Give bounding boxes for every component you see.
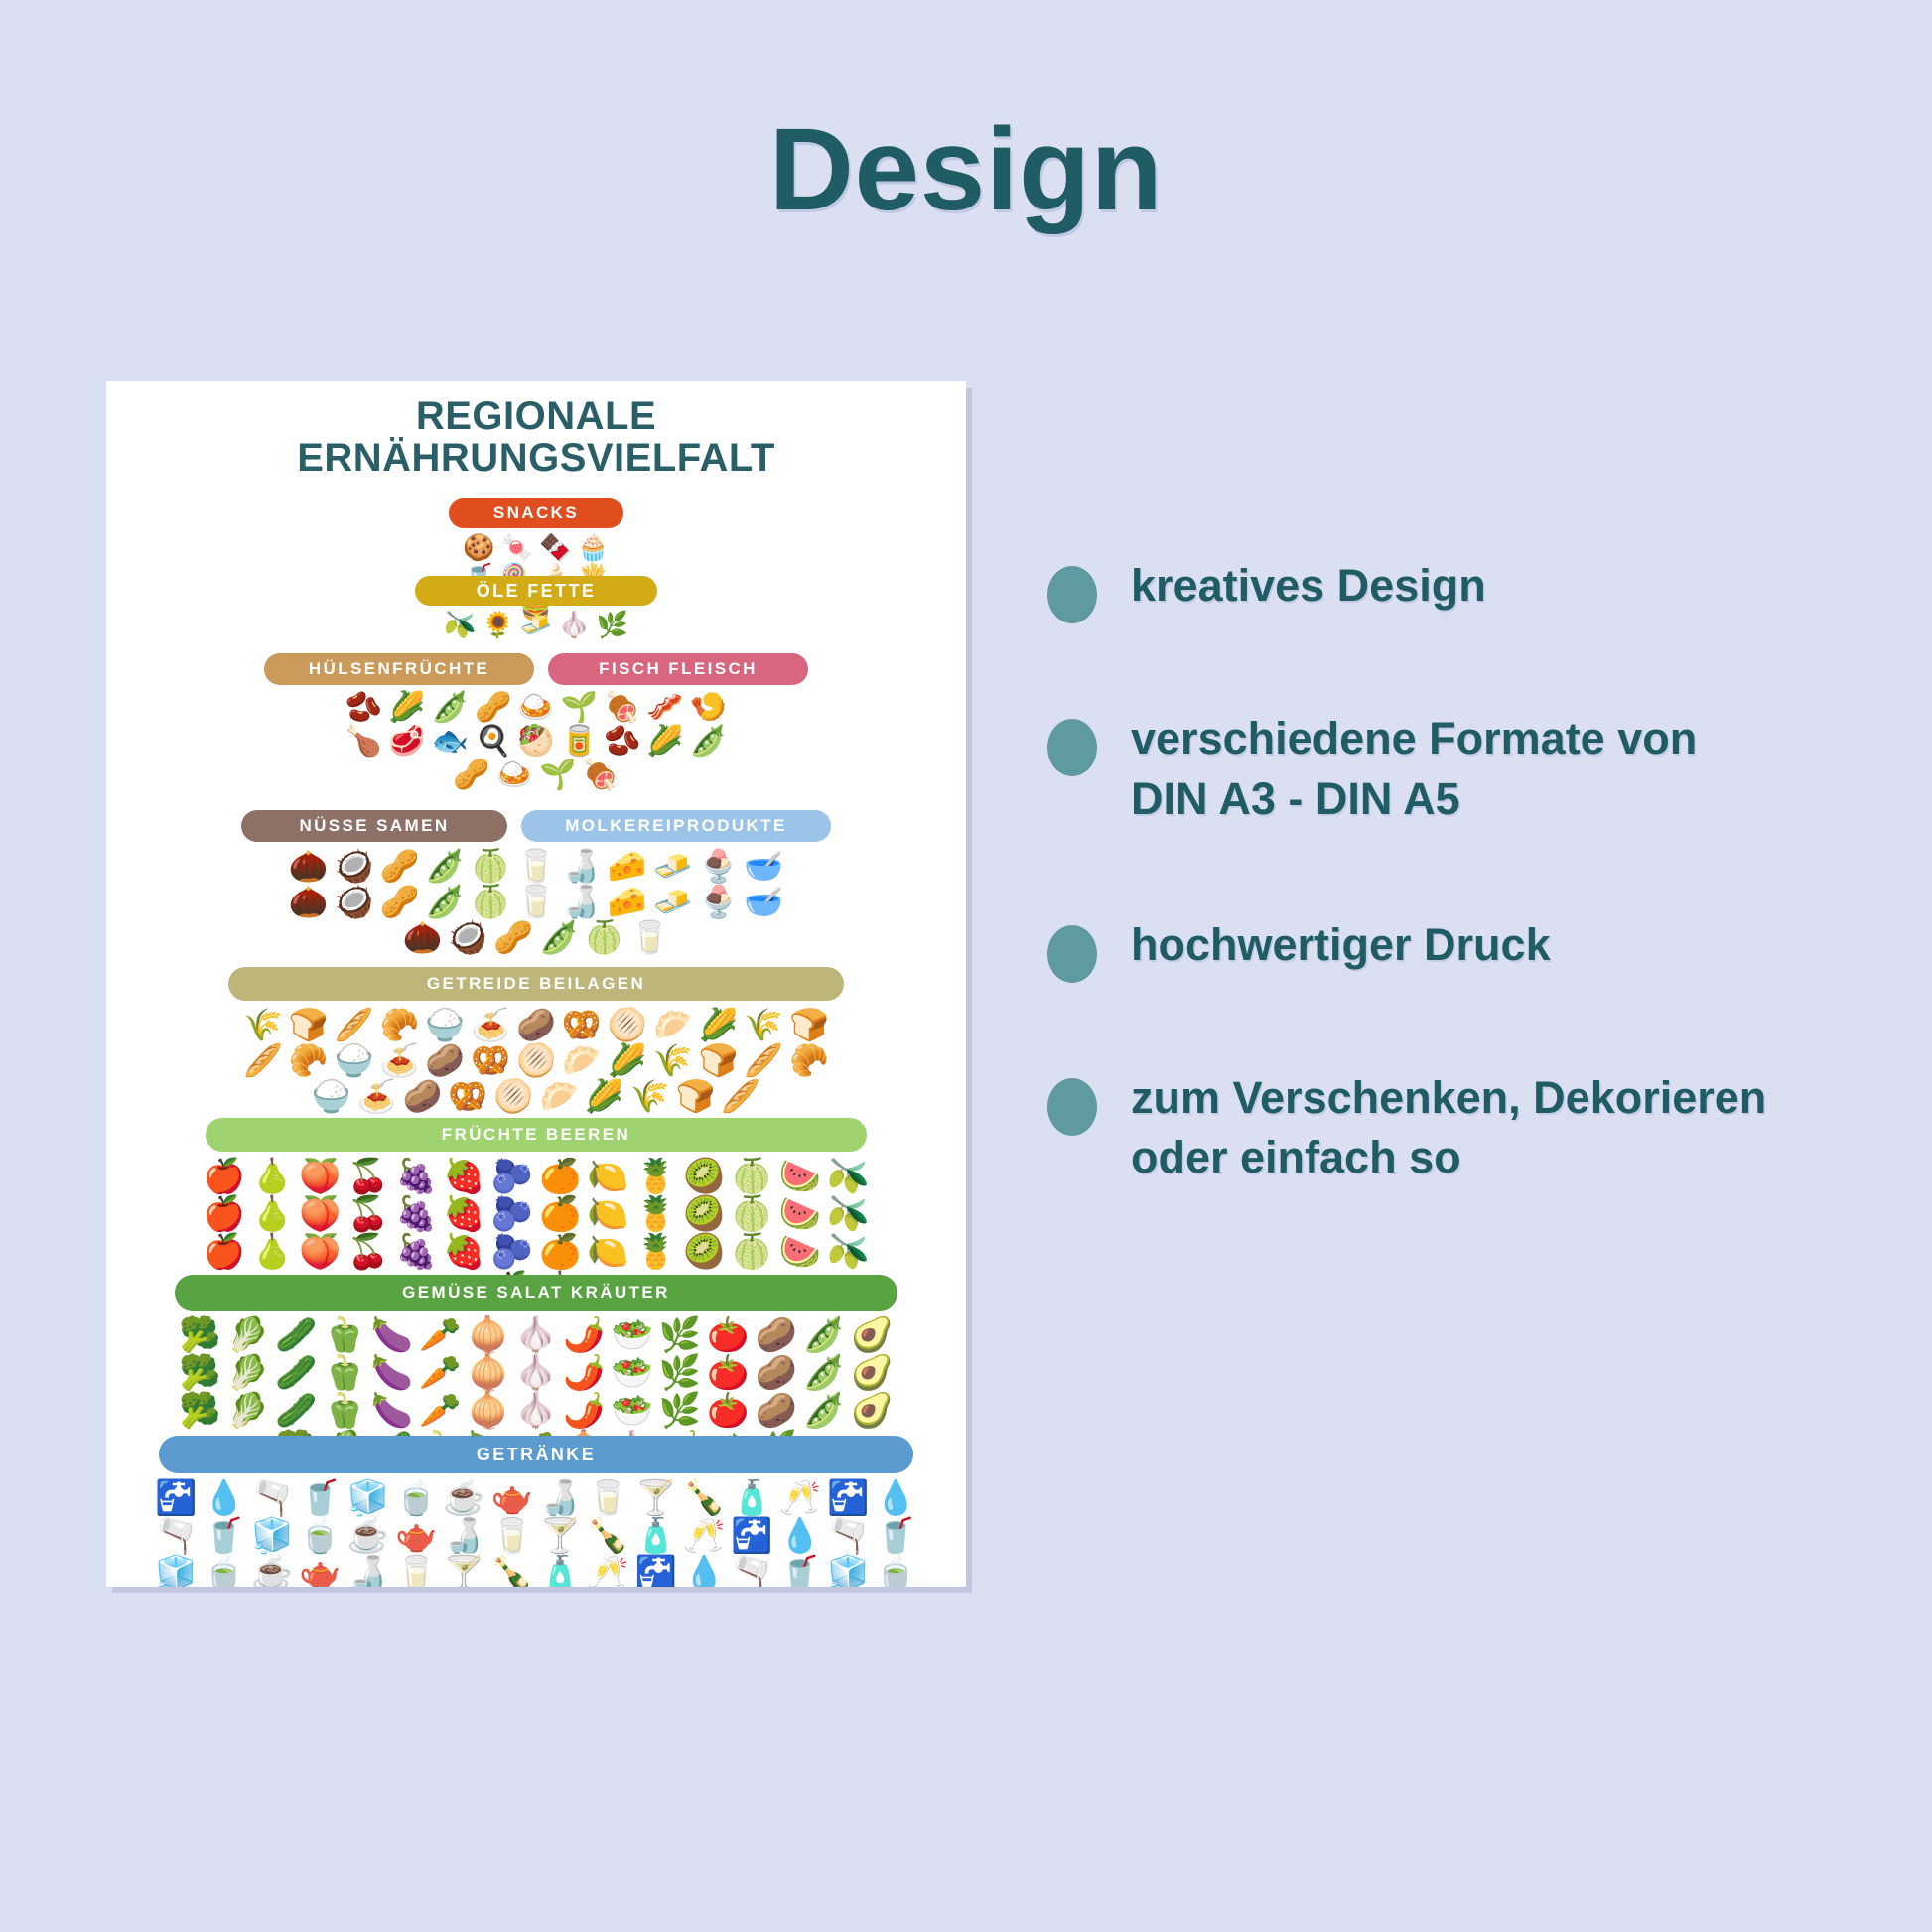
feature-item-line: kreatives Design xyxy=(1131,556,1486,617)
food-illustration: 🧀 xyxy=(608,886,647,917)
band-row: GEMÜSE SALAT KRÄUTER xyxy=(106,1275,966,1311)
food-illustration: 🍉 xyxy=(779,1197,821,1231)
food-illustration: 🥗 xyxy=(612,1356,653,1390)
food-illustration: 🥛 xyxy=(516,886,556,917)
food-illustration: 🧊 xyxy=(155,1557,197,1587)
food-illustration: 🥗 xyxy=(612,1318,653,1352)
pyramid-tier-getreide-beilagen: GETREIDE BEILAGEN🌾🍞🥖🥐🍚🍝🥔🥨🫓🥟🌽🌾🍞🥖🥐🍚🍝🥔🥨🫓🥟🌽🌾… xyxy=(106,967,966,1112)
pyramid-tier-nuesse-samen-molkerei: NÜSSE SAMENMOLKEREIPRODUKTE🌰🥥🥜🫛🍈🥛🍶🧀🧈🍨🥣🌰🥥… xyxy=(106,810,966,953)
food-illustration: 🧄 xyxy=(558,612,590,637)
food-illustration: 💧 xyxy=(779,1519,821,1553)
food-illustration: 🍓 xyxy=(443,1160,484,1193)
food-illustration: 🍞 xyxy=(698,1044,738,1076)
food-illustration: 🫛 xyxy=(425,850,465,882)
food-illustration: 🍆 xyxy=(371,1394,413,1428)
food-illustration: 🥦 xyxy=(179,1318,220,1352)
food-illustration: 🥔 xyxy=(756,1356,797,1390)
food-illustration: 🥕 xyxy=(419,1318,461,1352)
food-illustration: 🫗 xyxy=(155,1519,197,1553)
food-illustration: 🍑 xyxy=(299,1197,341,1231)
food-illustration: 🥤 xyxy=(875,1519,916,1553)
food-illustration: 🍶 xyxy=(562,886,602,917)
food-illustration: 🍸 xyxy=(539,1519,581,1553)
food-illustration: 🥥 xyxy=(335,850,374,882)
food-illustration: 🥛 xyxy=(587,1481,628,1515)
food-illustration: 🥕 xyxy=(419,1356,461,1390)
food-illustration: 🍾 xyxy=(587,1519,628,1553)
feature-item-line: hochwertiger Druck xyxy=(1131,915,1551,976)
food-illustration: 🧴 xyxy=(731,1481,772,1515)
pyramid-tier-huelsenfruechte-fisch-fleisch: HÜLSENFRÜCHTEFISCH FLEISCH🫘🌽🫛🥜🍛🌱🍖🥓🍤🍗🥩🐟🍳🥙… xyxy=(106,653,966,790)
food-illustration: 💧 xyxy=(683,1557,725,1587)
food-illustration: 🍶 xyxy=(347,1557,389,1587)
feature-item-label: verschiedene Formate vonDIN A3 - DIN A5 xyxy=(1131,709,1697,830)
food-illustration: 🧅 xyxy=(467,1394,508,1428)
food-illustration: 🌿 xyxy=(659,1356,701,1390)
food-illustration: 🧁 xyxy=(577,534,609,560)
food-illustration: 🥝 xyxy=(683,1197,725,1231)
food-illustration: 🧈 xyxy=(653,886,693,917)
food-illustration: 🚰 xyxy=(827,1481,869,1515)
pyramid-band-label: MOLKEREIPRODUKTE xyxy=(521,810,831,842)
pyramid-tier-illustrations: 🌰🥥🥜🫛🍈🥛🍶🧀🧈🍨🥣🌰🥥🥜🫛🍈🥛🍶🧀🧈🍨🥣🌰🥥🥜🫛🍈🥛 xyxy=(288,850,784,953)
food-illustration: 🍛 xyxy=(517,693,554,723)
food-illustration: 🍒 xyxy=(347,1235,389,1269)
food-illustration: 🧊 xyxy=(347,1481,389,1515)
food-illustration: 🫓 xyxy=(493,1080,533,1112)
food-illustration: 🥜 xyxy=(380,886,420,917)
food-illustration: 🍈 xyxy=(471,850,510,882)
food-illustration: 🍋 xyxy=(587,1160,628,1193)
band-row: GETRÄNKE xyxy=(106,1436,966,1473)
food-illustration: 🫛 xyxy=(425,886,465,917)
food-illustration: 🌽 xyxy=(698,1009,738,1040)
food-illustration: 🫒 xyxy=(827,1197,869,1231)
food-illustration: 🥨 xyxy=(562,1009,602,1040)
food-illustration: 🐟 xyxy=(432,727,469,757)
food-illustration: 🍍 xyxy=(635,1235,677,1269)
poster-title-line1: REGIONALE xyxy=(106,395,966,437)
food-illustration: ☕ xyxy=(347,1519,389,1553)
feature-item-line: zum Verschenken, Dekorieren xyxy=(1131,1068,1766,1129)
feature-item-line: DIN A3 - DIN A5 xyxy=(1131,769,1697,830)
food-illustration: 🧅 xyxy=(467,1356,508,1390)
food-illustration: 🧊 xyxy=(827,1557,869,1587)
food-illustration: 🫖 xyxy=(395,1519,437,1553)
poster-title: REGIONALE ERNÄHRUNGSVIELFALT xyxy=(106,395,966,479)
food-illustration: 🍵 xyxy=(299,1519,341,1553)
food-illustration: 🍚 xyxy=(425,1009,465,1040)
food-illustration: 🥂 xyxy=(683,1519,725,1553)
food-illustration: 🍖 xyxy=(582,760,619,790)
food-illustration: 🫛 xyxy=(803,1318,845,1352)
food-illustration: 🍊 xyxy=(539,1197,581,1231)
feature-list: kreatives Designverschiedene Formate von… xyxy=(1047,556,1871,1274)
food-illustration: 🌾 xyxy=(243,1009,283,1040)
food-illustration: 💧 xyxy=(875,1481,916,1515)
food-illustration: 🍈 xyxy=(471,886,510,917)
food-illustration: 🍆 xyxy=(371,1318,413,1352)
band-row: SNACKS xyxy=(106,498,966,528)
food-illustration: 🥒 xyxy=(275,1318,317,1352)
food-illustration: 🚰 xyxy=(731,1519,772,1553)
food-illustration: 🫒 xyxy=(827,1235,869,1269)
food-illustration: 🍑 xyxy=(299,1160,341,1193)
food-illustration: 🧈 xyxy=(520,612,552,637)
pyramid-band-label: FISCH FLEISCH xyxy=(548,653,808,685)
feature-item-verschenken: zum Verschenken, Dekorierenoder einfach … xyxy=(1047,1068,1871,1189)
food-illustration: 🫒 xyxy=(827,1160,869,1193)
food-illustration: 🥥 xyxy=(448,921,487,953)
food-illustration: 🌿 xyxy=(659,1394,701,1428)
food-illustration: 🫒 xyxy=(444,612,476,637)
food-illustration: 🍉 xyxy=(779,1235,821,1269)
food-illustration: 🫗 xyxy=(827,1519,869,1553)
food-illustration: 🍝 xyxy=(357,1080,397,1112)
food-illustration: 🍨 xyxy=(698,886,738,917)
food-illustration: 🍵 xyxy=(204,1557,245,1587)
food-illustration: 🌰 xyxy=(289,850,329,882)
food-illustration: 🫘 xyxy=(345,693,382,723)
pyramid-tier-illustrations: 🫘🌽🫛🥜🍛🌱🍖🥓🍤🍗🥩🐟🍳🥙🥫🫘🌽🫛🥜🍛🌱🍖 xyxy=(338,693,735,790)
food-illustration: 🥒 xyxy=(275,1356,317,1390)
food-illustration: 🍬 xyxy=(501,534,533,560)
food-illustration: 🍞 xyxy=(289,1009,329,1040)
pyramid-band-label: NÜSSE SAMEN xyxy=(241,810,507,842)
food-illustration: 🍞 xyxy=(789,1009,829,1040)
food-illustration: 🌽 xyxy=(585,1080,624,1112)
food-illustration: 🥓 xyxy=(646,693,683,723)
feature-item-label: hochwertiger Druck xyxy=(1131,915,1551,976)
feature-item-line: oder einfach so xyxy=(1131,1128,1766,1188)
food-illustration: 🥨 xyxy=(448,1080,487,1112)
food-illustration: 🍞 xyxy=(676,1080,716,1112)
food-illustration: 🥬 xyxy=(227,1356,269,1390)
food-illustration: 🥣 xyxy=(744,850,783,882)
food-illustration: 🫑 xyxy=(323,1318,364,1352)
food-illustration: 🥤 xyxy=(299,1481,341,1515)
food-illustration: 🧴 xyxy=(635,1519,677,1553)
band-row: NÜSSE SAMENMOLKEREIPRODUKTE xyxy=(106,810,966,842)
food-illustration: 🍅 xyxy=(707,1356,749,1390)
food-illustration: 🥖 xyxy=(243,1044,283,1076)
food-illustration: 🍇 xyxy=(395,1197,437,1231)
bullet-dot-icon xyxy=(1047,719,1097,776)
pyramid-tier-oele-fette: ÖLE FETTE🫒🌻🧈🧄🌿 xyxy=(106,576,966,637)
food-illustration: 🍒 xyxy=(347,1197,389,1231)
food-illustration: 🍾 xyxy=(491,1557,533,1587)
food-illustration: 🥬 xyxy=(227,1394,269,1428)
feature-item-label: kreatives Design xyxy=(1131,556,1486,617)
food-illustration: 🍶 xyxy=(443,1519,484,1553)
food-illustration: 🍫 xyxy=(539,534,571,560)
food-illustration: 🍈 xyxy=(585,921,624,953)
food-illustration: 🍇 xyxy=(395,1235,437,1269)
food-illustration: 🌾 xyxy=(630,1080,670,1112)
food-illustration: 🥜 xyxy=(380,850,420,882)
food-illustration: 🥕 xyxy=(419,1394,461,1428)
pyramid-band-label: ÖLE FETTE xyxy=(415,576,657,606)
food-illustration: 🍐 xyxy=(251,1197,293,1231)
pyramid-band-label: GETREIDE BEILAGEN xyxy=(228,967,844,1001)
food-illustration: 🌽 xyxy=(646,727,683,757)
food-illustration: 🚰 xyxy=(635,1557,677,1587)
food-illustration: 🫐 xyxy=(491,1235,533,1269)
food-illustration: 🍸 xyxy=(443,1557,484,1587)
page-title: Design xyxy=(0,111,1932,228)
food-illustration: 🫘 xyxy=(604,727,640,757)
food-illustration: 🥟 xyxy=(653,1009,693,1040)
food-illustration: 🚰 xyxy=(155,1481,197,1515)
food-illustration: 🥔 xyxy=(425,1044,465,1076)
food-illustration: 🍪 xyxy=(463,534,494,560)
food-illustration: 🍓 xyxy=(443,1197,484,1231)
food-illustration: 🍈 xyxy=(731,1235,772,1269)
food-illustration: 🌶️ xyxy=(563,1356,605,1390)
food-illustration: 🫑 xyxy=(323,1356,364,1390)
food-illustration: 🍝 xyxy=(380,1044,420,1076)
food-illustration: 🍗 xyxy=(345,727,382,757)
food-illustration: 🌰 xyxy=(402,921,442,953)
food-illustration: 🍸 xyxy=(635,1481,677,1515)
food-illustration: 🍵 xyxy=(395,1481,437,1515)
food-illustration: 🫗 xyxy=(251,1481,293,1515)
food-illustration: 🍎 xyxy=(204,1160,245,1193)
food-illustration: ☕ xyxy=(251,1557,293,1587)
food-illustration: 🍈 xyxy=(731,1197,772,1231)
food-illustration: 🥣 xyxy=(744,886,783,917)
food-illustration: 🥔 xyxy=(402,1080,442,1112)
food-illustration: 🥛 xyxy=(491,1519,533,1553)
bullet-dot-icon xyxy=(1047,566,1097,623)
food-illustration: 🍊 xyxy=(539,1160,581,1193)
food-illustration: 🥛 xyxy=(395,1557,437,1587)
food-illustration: 🥗 xyxy=(612,1394,653,1428)
food-illustration: 🥝 xyxy=(683,1235,725,1269)
food-illustration: 🍶 xyxy=(539,1481,581,1515)
food-illustration: 🫑 xyxy=(323,1394,364,1428)
band-row: HÜLSENFRÜCHTEFISCH FLEISCH xyxy=(106,653,966,685)
food-illustration: 🫛 xyxy=(432,693,469,723)
feature-item-label: zum Verschenken, Dekorierenoder einfach … xyxy=(1131,1068,1766,1189)
food-illustration: 💧 xyxy=(204,1481,245,1515)
pyramid-tier-illustrations: 🫒🌻🧈🧄🌿 xyxy=(422,612,650,637)
food-illustration: 🫖 xyxy=(491,1481,533,1515)
food-illustration: 🌾 xyxy=(744,1009,783,1040)
food-illustration: 🥩 xyxy=(388,727,425,757)
food-illustration: 🥐 xyxy=(380,1009,420,1040)
food-illustration: 🍋 xyxy=(587,1235,628,1269)
food-illustration: 🌱 xyxy=(561,693,598,723)
food-illustration: 🥐 xyxy=(789,1044,829,1076)
pyramid-band-label: GEMÜSE SALAT KRÄUTER xyxy=(175,1275,897,1311)
food-illustration: 🫛 xyxy=(803,1394,845,1428)
poster-preview[interactable]: REGIONALE ERNÄHRUNGSVIELFALT SNACKS🍪🍬🍫🧁🥤… xyxy=(106,381,966,1587)
food-illustration: 🥖 xyxy=(335,1009,374,1040)
food-illustration: 🌶️ xyxy=(563,1394,605,1428)
food-illustration: 🍅 xyxy=(707,1394,749,1428)
food-illustration: 🥔 xyxy=(756,1394,797,1428)
food-illustration: 🥔 xyxy=(756,1318,797,1352)
food-illustration: 🍆 xyxy=(371,1356,413,1390)
pyramid-tier-illustrations: 🌾🍞🥖🥐🍚🍝🥔🥨🫓🥟🌽🌾🍞🥖🥐🍚🍝🥔🥨🫓🥟🌽🌾🍞🥖🥐🍚🍝🥔🥨🫓🥟🌽🌾🍞🥖 xyxy=(233,1009,839,1112)
food-illustration: 🍋 xyxy=(587,1197,628,1231)
food-illustration: 🥫 xyxy=(561,727,598,757)
bullet-dot-icon xyxy=(1047,925,1097,983)
pyramid-band-label: HÜLSENFRÜCHTE xyxy=(264,653,534,685)
food-illustration: 🥬 xyxy=(227,1318,269,1352)
food-illustration: 🫛 xyxy=(803,1356,845,1390)
food-illustration: 🫛 xyxy=(539,921,579,953)
feature-item-formate: verschiedene Formate vonDIN A3 - DIN A5 xyxy=(1047,709,1871,830)
food-illustration: 🥛 xyxy=(516,850,556,882)
food-illustration: 🌽 xyxy=(608,1044,647,1076)
food-illustration: 🫓 xyxy=(608,1009,647,1040)
food-illustration: 🧴 xyxy=(539,1557,581,1587)
food-illustration: 🥐 xyxy=(289,1044,329,1076)
food-illustration: 🫖 xyxy=(299,1557,341,1587)
food-illustration: 🥒 xyxy=(275,1394,317,1428)
food-illustration: 🍖 xyxy=(604,693,640,723)
food-illustration: 🌽 xyxy=(388,693,425,723)
food-illustration: 🌿 xyxy=(597,612,628,637)
food-illustration: 🍅 xyxy=(707,1318,749,1352)
food-illustration: 🍝 xyxy=(471,1009,510,1040)
feature-item-druck: hochwertiger Druck xyxy=(1047,915,1871,983)
food-illustration: 🥙 xyxy=(517,727,554,757)
food-illustration: 🥜 xyxy=(453,760,489,790)
food-illustration: 🥑 xyxy=(851,1356,893,1390)
food-illustration: 🧈 xyxy=(653,850,693,882)
food-illustration: 🍐 xyxy=(251,1160,293,1193)
food-illustration: 🥟 xyxy=(539,1080,579,1112)
food-illustration: 🫐 xyxy=(491,1197,533,1231)
poster-title-line2: ERNÄHRUNGSVIELFALT xyxy=(106,437,966,479)
food-illustration: 🥦 xyxy=(179,1394,220,1428)
pyramid-band-label: GETRÄNKE xyxy=(159,1436,913,1473)
food-illustration: 🥦 xyxy=(179,1356,220,1390)
food-illustration: 🌿 xyxy=(659,1318,701,1352)
band-row: FRÜCHTE BEEREN xyxy=(106,1118,966,1152)
band-row: ÖLE FETTE xyxy=(106,576,966,606)
food-illustration: 🍶 xyxy=(562,850,602,882)
band-row: GETREIDE BEILAGEN xyxy=(106,967,966,1001)
food-illustration: 🥨 xyxy=(471,1044,510,1076)
food-illustration: 🥂 xyxy=(779,1481,821,1515)
food-illustration: 🍳 xyxy=(475,727,511,757)
food-illustration: 🧄 xyxy=(515,1318,557,1352)
feature-item-line: verschiedene Formate von xyxy=(1131,709,1697,769)
food-illustration: 🥖 xyxy=(744,1044,783,1076)
food-illustration: 🫓 xyxy=(516,1044,556,1076)
food-illustration: 🥛 xyxy=(630,921,670,953)
food-illustration: 🌶️ xyxy=(563,1318,605,1352)
food-illustration: 🌾 xyxy=(653,1044,693,1076)
food-illustration: 🥖 xyxy=(721,1080,760,1112)
food-illustration: 🧀 xyxy=(608,850,647,882)
food-illustration: 🫗 xyxy=(731,1557,772,1587)
food-illustration: 🍊 xyxy=(539,1235,581,1269)
food-illustration: 🍓 xyxy=(443,1235,484,1269)
food-illustration: ☕ xyxy=(443,1481,484,1515)
feature-item-kreatives-design: kreatives Design xyxy=(1047,556,1871,623)
food-illustration: 🥑 xyxy=(851,1394,893,1428)
bullet-dot-icon xyxy=(1047,1078,1097,1136)
food-illustration: 🥥 xyxy=(335,886,374,917)
food-illustration: 🌰 xyxy=(289,886,329,917)
food-illustration: 🧄 xyxy=(515,1356,557,1390)
food-illustration: 🍛 xyxy=(496,760,533,790)
pyramid-band-label: FRÜCHTE BEEREN xyxy=(206,1118,867,1152)
food-illustration: 🍾 xyxy=(683,1481,725,1515)
food-illustration: 🍑 xyxy=(299,1235,341,1269)
food-illustration: 🍨 xyxy=(698,850,738,882)
food-illustration: 🍍 xyxy=(635,1197,677,1231)
food-illustration: 🌻 xyxy=(482,612,513,637)
food-illustration: 🧅 xyxy=(467,1318,508,1352)
food-illustration: 🥂 xyxy=(587,1557,628,1587)
food-illustration: 🍤 xyxy=(690,693,727,723)
food-illustration: 🥟 xyxy=(562,1044,602,1076)
food-illustration: 🍚 xyxy=(335,1044,374,1076)
pyramid-tier-getraenke: GETRÄNKE🚰💧🫗🥤🧊🍵☕🫖🍶🥛🍸🍾🧴🥂🚰💧🫗🥤🧊🍵☕🫖🍶🥛🍸🍾🧴🥂🚰💧🫗🥤… xyxy=(106,1436,966,1587)
pyramid-band-label: SNACKS xyxy=(449,498,623,528)
food-illustration: 🍒 xyxy=(347,1160,389,1193)
food-illustration: 🥝 xyxy=(683,1160,725,1193)
food-illustration: 🌱 xyxy=(539,760,576,790)
pyramid-tier-illustrations: 🚰💧🫗🥤🧊🍵☕🫖🍶🥛🍸🍾🧴🥂🚰💧🫗🥤🧊🍵☕🫖🍶🥛🍸🍾🧴🥂🚰💧🫗🥤🧊🍵☕🫖🍶🥛🍸🍾… xyxy=(149,1481,923,1587)
food-illustration: 🥜 xyxy=(493,921,533,953)
food-illustration: 🍚 xyxy=(312,1080,351,1112)
food-illustration: 🍉 xyxy=(779,1160,821,1193)
food-illustration: 🍐 xyxy=(251,1235,293,1269)
food-illustration: 🍍 xyxy=(635,1160,677,1193)
food-illustration: 🥤 xyxy=(204,1519,245,1553)
food-illustration: 🧄 xyxy=(515,1394,557,1428)
food-illustration: 🥤 xyxy=(779,1557,821,1587)
food-illustration: 🍇 xyxy=(395,1160,437,1193)
food-illustration: 🍎 xyxy=(204,1235,245,1269)
food-illustration: 🥔 xyxy=(516,1009,556,1040)
food-illustration: 🫐 xyxy=(491,1160,533,1193)
food-illustration: 🍵 xyxy=(875,1557,916,1587)
food-illustration: 🧊 xyxy=(251,1519,293,1553)
food-illustration: 🍎 xyxy=(204,1197,245,1231)
food-illustration: 🍈 xyxy=(731,1160,772,1193)
food-illustration: 🫛 xyxy=(690,727,727,757)
food-illustration: 🥜 xyxy=(475,693,511,723)
food-illustration: 🥑 xyxy=(851,1318,893,1352)
